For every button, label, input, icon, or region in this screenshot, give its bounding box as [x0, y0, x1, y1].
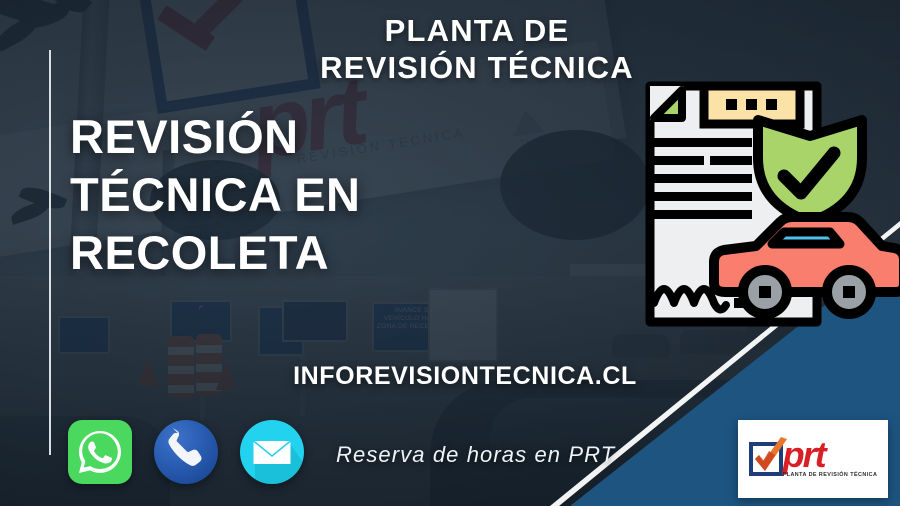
kicker-line-1: PLANTA DE	[262, 12, 692, 49]
prt-logo-subtitle: PLANTA DE REVISIÓN TÉCNICA	[783, 472, 878, 478]
prt-wordmark: prt	[783, 440, 878, 470]
car-wheel-hub	[843, 286, 855, 298]
document-text-line	[652, 210, 752, 219]
document-text-line	[652, 192, 752, 201]
headline-line-1: REVISIÓN	[70, 108, 540, 166]
header-dot	[746, 99, 757, 110]
prt-logo-text: prt PLANTA DE REVISIÓN TÉCNICA	[783, 440, 878, 478]
left-vertical-rule	[49, 50, 51, 455]
document-text-line	[652, 156, 704, 165]
whatsapp-icon[interactable]	[68, 420, 132, 484]
inspection-certificate-illustration	[612, 58, 900, 350]
page-title: REVISIÓN TÉCNICA EN RECOLETA	[70, 108, 540, 282]
shield-shape	[758, 120, 862, 222]
prt-logo-checkbox	[749, 442, 783, 476]
prt-logo: prt PLANTA DE REVISIÓN TÉCNICA	[749, 440, 878, 478]
poster-canvas: prt REVISION TECNICA TÜV ↱ AVANCE SU VEH…	[0, 0, 900, 506]
document-text-line	[652, 174, 752, 183]
headline-line-2: TÉCNICA EN	[70, 166, 540, 224]
document-text-line	[710, 156, 752, 165]
header-dot	[766, 99, 777, 110]
header-dot	[726, 99, 737, 110]
contact-icons-group	[68, 420, 304, 484]
tagline-text: Reserva de horas en PRT	[336, 442, 615, 468]
car-window	[772, 232, 840, 244]
email-icon[interactable]	[240, 420, 304, 484]
headline-line-3: RECOLETA	[70, 224, 540, 282]
document-text-line	[652, 138, 752, 147]
website-url[interactable]: INFOREVISIONTECNICA.CL	[225, 362, 705, 391]
prt-logo-card: prt PLANTA DE REVISIÓN TÉCNICA	[738, 420, 888, 498]
car-wheel-hub	[759, 286, 771, 298]
phone-icon[interactable]	[154, 420, 218, 484]
